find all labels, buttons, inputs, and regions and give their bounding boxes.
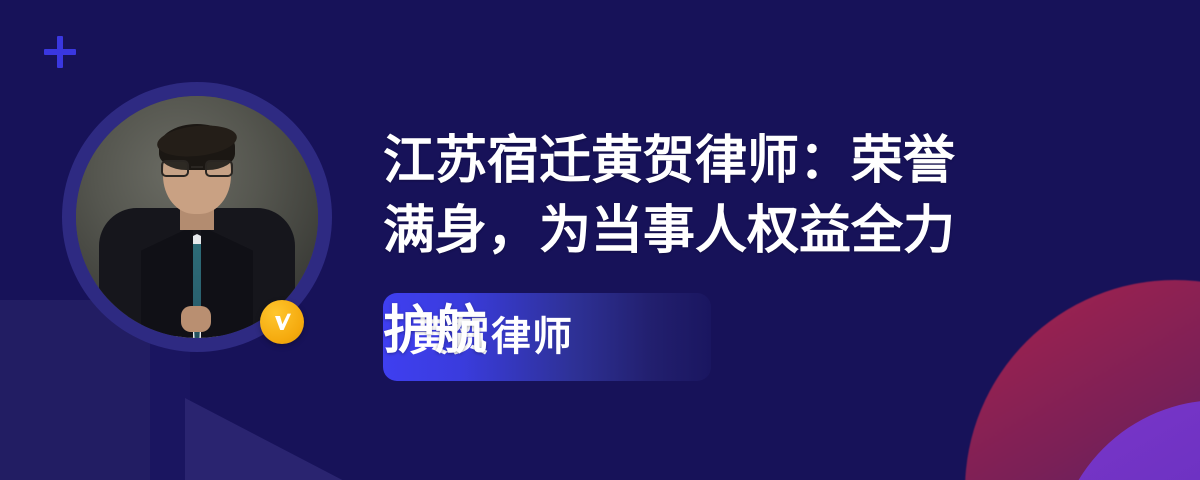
headline-block: 江苏宿迁黄贺律师：荣誉 满身，为当事人权益全力 xyxy=(383,126,1083,266)
plus-icon xyxy=(44,36,76,68)
avatar xyxy=(62,82,332,352)
name-badge: 黄贺律师 xyxy=(383,293,711,381)
page-title: 江苏宿迁黄贺律师：荣誉 满身，为当事人权益全力 xyxy=(383,126,1083,266)
headline-line-2: 满身，为当事人权益全力 xyxy=(383,202,955,260)
verified-v-icon xyxy=(260,300,304,344)
decor-left-triangle xyxy=(185,398,350,480)
name-badge-label: 黄贺律师 xyxy=(409,317,573,357)
glasses-icon xyxy=(161,160,233,178)
headline-line-1: 江苏宿迁黄贺律师：荣誉 xyxy=(383,132,955,190)
portrait-hand xyxy=(181,306,211,332)
promo-banner: 黄贺律师 江苏宿迁黄贺律师：荣誉 满身，为当事人权益全力 护航 xyxy=(0,0,1200,480)
